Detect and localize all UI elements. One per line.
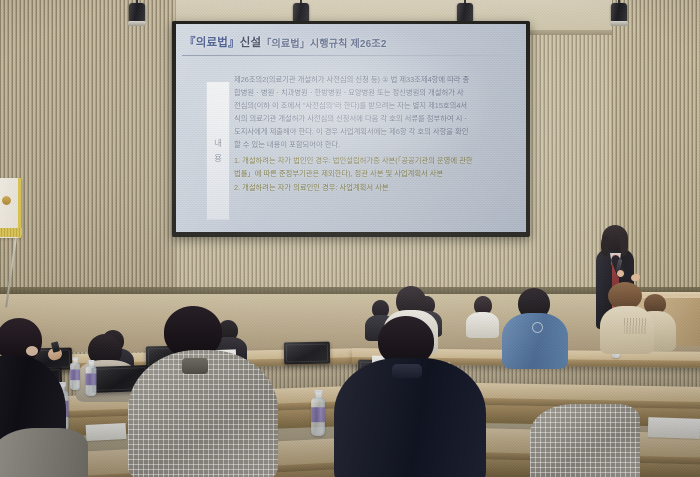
garment-text	[624, 318, 646, 334]
shirt-logo-icon	[532, 322, 543, 333]
slide-line: 도지사에게 제출해야 한다. 이 경우 사업계획서에는 제6항 각 호의 사항을…	[234, 126, 520, 138]
presenter-hair-strand	[620, 236, 628, 256]
slide-bullet-dash-icon	[226, 79, 232, 80]
slide-numbered-line: 1. 개설하려는 자가 법인인 경우: 법인설립허가증 사본(「공공기관의 운영…	[234, 155, 520, 167]
slide-numbered-line: 2. 개설하려는 자가 의료인인 경우: 사업계획서 사본	[234, 182, 520, 194]
monitor	[284, 342, 330, 365]
left-wall-panel	[0, 0, 176, 300]
slide-numbered-line: 법률」에 따른 준정부기관은 제외한다), 정관 사본 및 사업계획서 사본	[234, 168, 520, 180]
projection-screen: 『의료법』 신설 「의료법」시행규칙 제26조2 내 용 제26조의2(의료기관…	[172, 21, 530, 237]
slide-line: 제26조의2(의료기관 개설허가 사전심의 신청 등) ① 법 제33조제4항에…	[234, 74, 520, 86]
paper-sheet	[86, 423, 127, 441]
water-bottle	[86, 360, 97, 396]
presenter-hand	[617, 270, 624, 277]
water-bottle	[311, 390, 325, 436]
slide-title-divider	[182, 55, 522, 56]
lecture-hall-photo: 『의료법』 신설 「의료법」시행규칙 제26조2 내 용 제26조의2(의료기관…	[0, 0, 700, 477]
ceiling-spotlight-icon	[128, 0, 146, 28]
attendee-collar	[392, 364, 422, 378]
attendee-body	[466, 312, 499, 338]
slide-line: 전심의(이하 이 조에서 "사전심의"라 한다)를 받으려는 자는 별지 제15…	[234, 100, 520, 112]
slide-line: 할 수 있는 내용이 포함되어야 한다.	[234, 139, 520, 151]
attendee-ear	[26, 346, 38, 356]
slide-line: 식의 의료기관 개설허가 사전심의 신청서에 다음 각 호의 서류를 첨부하여 …	[234, 113, 520, 125]
water-bottle	[70, 357, 80, 390]
presenter-hair-strand	[601, 236, 609, 256]
slide-title: 『의료법』 신설 「의료법」시행규칙 제26조2	[184, 31, 520, 53]
slide-surface: 『의료법』 신설 「의료법」시행규칙 제26조2 내 용 제26조의2(의료기관…	[176, 24, 526, 232]
slide-body-text: 제26조의2(의료기관 개설허가 사전심의 신청 등) ① 법 제33조제4항에…	[234, 74, 520, 195]
ceiling-spotlight-icon	[610, 0, 628, 28]
slide-side-tab: 내 용	[206, 81, 230, 220]
paper-sheet	[648, 417, 700, 439]
slide-line: 합병원ㆍ병원ㆍ치과병원ㆍ한방병원ㆍ요양병원 또는 정신병원의 개설허가 사	[234, 87, 520, 99]
presenter-hand-right	[630, 273, 641, 282]
attendee-collar	[182, 358, 208, 374]
attendee-body	[0, 428, 88, 477]
attendee-body	[530, 404, 640, 477]
flag-emblem-icon	[2, 196, 11, 205]
